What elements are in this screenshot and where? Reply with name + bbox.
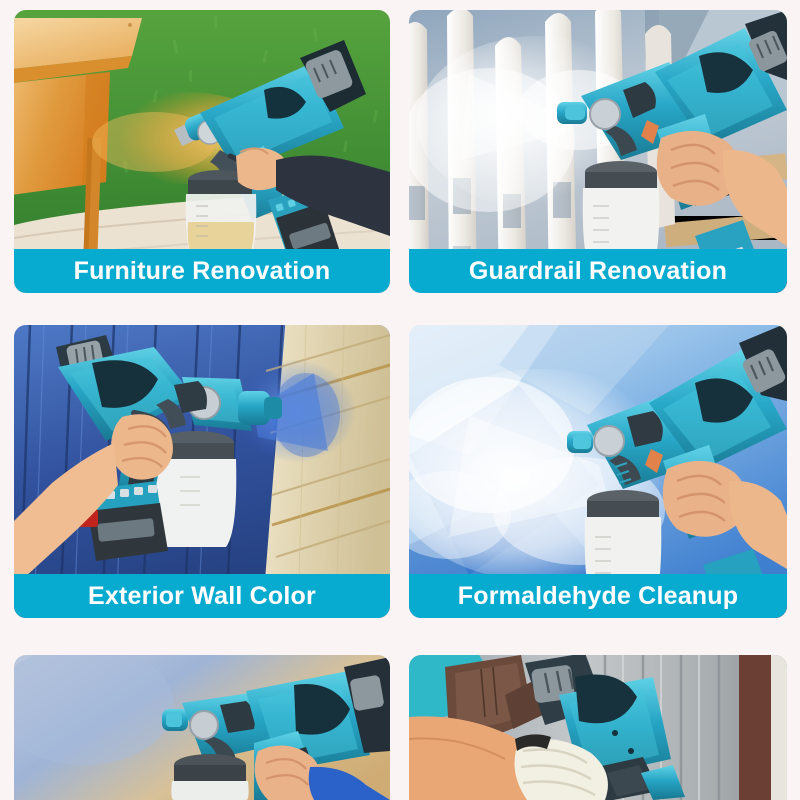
use-case-card-exterior-wall-color[interactable]: Exterior Wall Color <box>14 325 390 618</box>
use-case-grid: Furniture Renovation <box>0 0 800 800</box>
caption-bar: Formaldehyde Cleanup <box>409 574 787 618</box>
caption-bar: Furniture Renovation <box>14 249 390 293</box>
caption-label: Guardrail Renovation <box>469 259 727 284</box>
use-case-card-bottom-right[interactable] <box>409 655 787 800</box>
caption-label: Furniture Renovation <box>74 259 331 284</box>
caption-label: Exterior Wall Color <box>88 584 316 609</box>
use-case-card-formaldehyde-cleanup[interactable]: Formaldehyde Cleanup <box>409 325 787 618</box>
caption-label: Formaldehyde Cleanup <box>458 584 738 609</box>
use-case-card-furniture-renovation[interactable]: Furniture Renovation <box>14 10 390 293</box>
caption-bar: Guardrail Renovation <box>409 249 787 293</box>
use-case-card-bottom-left[interactable] <box>14 655 390 800</box>
use-case-card-guardrail-renovation[interactable]: Guardrail Renovation <box>409 10 787 293</box>
caption-bar: Exterior Wall Color <box>14 574 390 618</box>
photo-bottom-left-scene <box>14 655 390 800</box>
photo-bottom-right-scene <box>409 655 787 800</box>
